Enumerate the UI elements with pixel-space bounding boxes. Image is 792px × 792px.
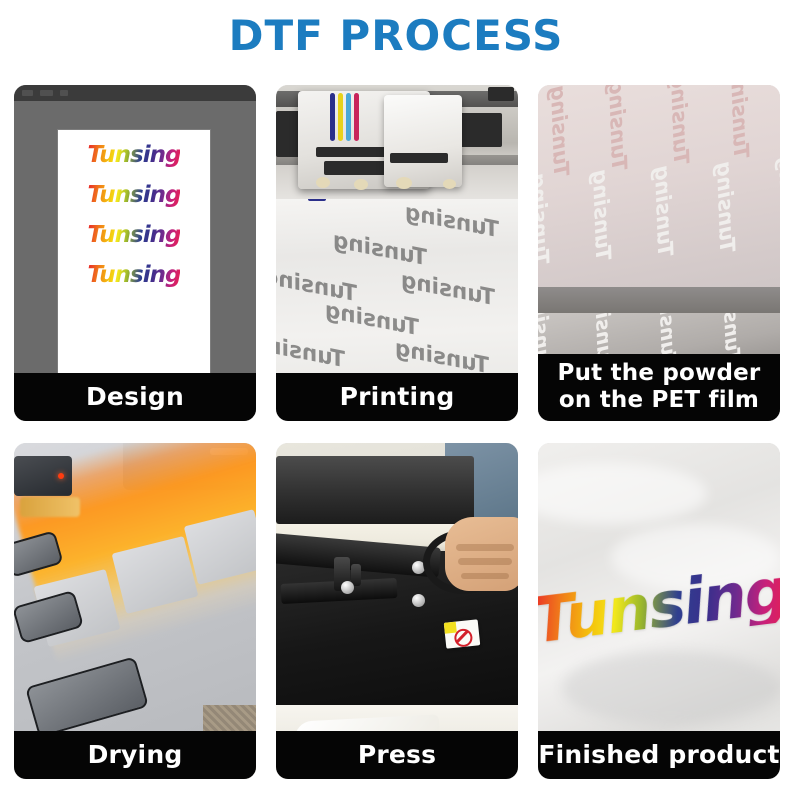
design-software-window: Tunsing Tunsing Tunsing Tunsing: [14, 85, 256, 421]
finger-line: [458, 558, 512, 565]
mirrored-logo: Tunsing: [546, 85, 573, 177]
card-label-design: Design: [14, 373, 256, 421]
process-card-press[interactable]: Press: [276, 443, 518, 779]
printing-photo: Tunsing Tunsing Tunsing Tunsing Tunsing …: [276, 85, 518, 421]
printhead-nozzle-bar: [390, 153, 448, 163]
press-upper-plate: [276, 456, 474, 523]
no-entry-icon: [454, 628, 474, 648]
mirrored-logo: Tunsing: [330, 228, 429, 271]
process-card-drying[interactable]: Drying: [14, 443, 256, 779]
process-card-printing[interactable]: Tunsing Tunsing Tunsing Tunsing Tunsing …: [276, 85, 518, 421]
brand-logo: Tunsing: [88, 184, 181, 207]
process-steps-grid: Tunsing Tunsing Tunsing Tunsing Design: [14, 85, 779, 780]
card-label-powder-line1: Put the powder: [538, 360, 780, 387]
mirrored-logo: Tunsing: [588, 169, 615, 261]
design-window-titlebar: [14, 85, 256, 101]
mirrored-logo: Tunsing: [774, 155, 780, 247]
mirrored-logo: Tunsing: [402, 200, 501, 243]
mirrored-logo: Tunsing: [398, 268, 497, 311]
ink-tube-blue: [346, 93, 351, 141]
card-label-press: Press: [276, 731, 518, 779]
press-bolt: [412, 594, 425, 607]
pet-film-roller-band: [538, 287, 780, 317]
card-label-printing: Printing: [276, 373, 518, 421]
mirrored-logo: Tunsing: [726, 85, 753, 159]
card-label-powder-line2: on the PET film: [538, 387, 780, 414]
printhead-foot: [396, 177, 412, 189]
printed-logo-on-shirt: Tunsing: [538, 558, 780, 653]
pet-film-upper: Tunsing Tunsing Tunsing Tunsing Tunsing …: [538, 85, 780, 290]
ink-tube-magenta: [354, 93, 359, 141]
brand-logo: Tunsing: [538, 560, 780, 653]
drying-oven-scene: [14, 443, 256, 779]
mirrored-logo: Tunsing: [650, 165, 677, 257]
fabric-fold: [562, 651, 780, 725]
printer-scene: Tunsing Tunsing Tunsing Tunsing Tunsing …: [276, 85, 518, 421]
printhead-carriage-second: [384, 95, 462, 187]
finished-product-photo: Tunsing: [538, 443, 780, 779]
mirrored-logo: Tunsing: [322, 298, 421, 341]
press-bolt: [341, 581, 354, 594]
printhead-foot: [316, 177, 330, 188]
tool-icon: [60, 90, 68, 96]
conveyor-cutout: [25, 657, 149, 738]
process-card-design[interactable]: Tunsing Tunsing Tunsing Tunsing Design: [14, 85, 256, 421]
process-card-powder[interactable]: Tunsing Tunsing Tunsing Tunsing Tunsing …: [538, 85, 780, 421]
toolbar-icon: [40, 90, 53, 96]
press-photo: [276, 443, 518, 779]
brand-logo: Tunsing: [88, 224, 181, 247]
menu-icon: [22, 90, 33, 96]
printhead-foot: [443, 179, 456, 189]
warning-sticker: [444, 619, 481, 648]
logo-stack: Tunsing Tunsing Tunsing Tunsing: [58, 144, 210, 287]
ink-mark: [308, 199, 326, 201]
design-canvas: Tunsing Tunsing Tunsing Tunsing: [58, 130, 210, 403]
printhead-foot: [354, 179, 368, 190]
finger-line: [456, 544, 513, 551]
brand-logo: Tunsing: [88, 264, 181, 287]
design-screenshot-image: Tunsing Tunsing Tunsing Tunsing: [14, 85, 256, 421]
mirrored-logo: Tunsing: [604, 85, 631, 171]
heat-press-scene: [276, 443, 518, 779]
card-label-drying: Drying: [14, 731, 256, 779]
card-label-finished: Finished product: [538, 731, 780, 779]
ink-tube-yellow: [338, 93, 343, 141]
mirrored-logo: Tunsing: [666, 85, 693, 165]
mirrored-logo: Tunsing: [712, 161, 739, 253]
oven-roller: [20, 497, 80, 517]
drying-photo: [14, 443, 256, 779]
ink-tube-cyan: [330, 93, 335, 141]
card-label-powder: Put the powder on the PET film: [538, 354, 780, 421]
mirrored-logo: Tunsing: [538, 173, 553, 265]
printer-sensor: [488, 87, 514, 101]
tshirt-scene: Tunsing: [538, 443, 780, 779]
process-card-finished[interactable]: Tunsing Finished product: [538, 443, 780, 779]
brand-logo: Tunsing: [88, 144, 181, 167]
page-title: DTF PROCESS: [0, 0, 792, 72]
printer-body-right: [458, 113, 502, 147]
printhead-block: [324, 161, 388, 175]
mirrored-logo: Tunsing: [276, 264, 359, 307]
fabric-fold: [538, 463, 707, 523]
finger-line: [461, 573, 509, 579]
operator-hand: [445, 517, 518, 591]
